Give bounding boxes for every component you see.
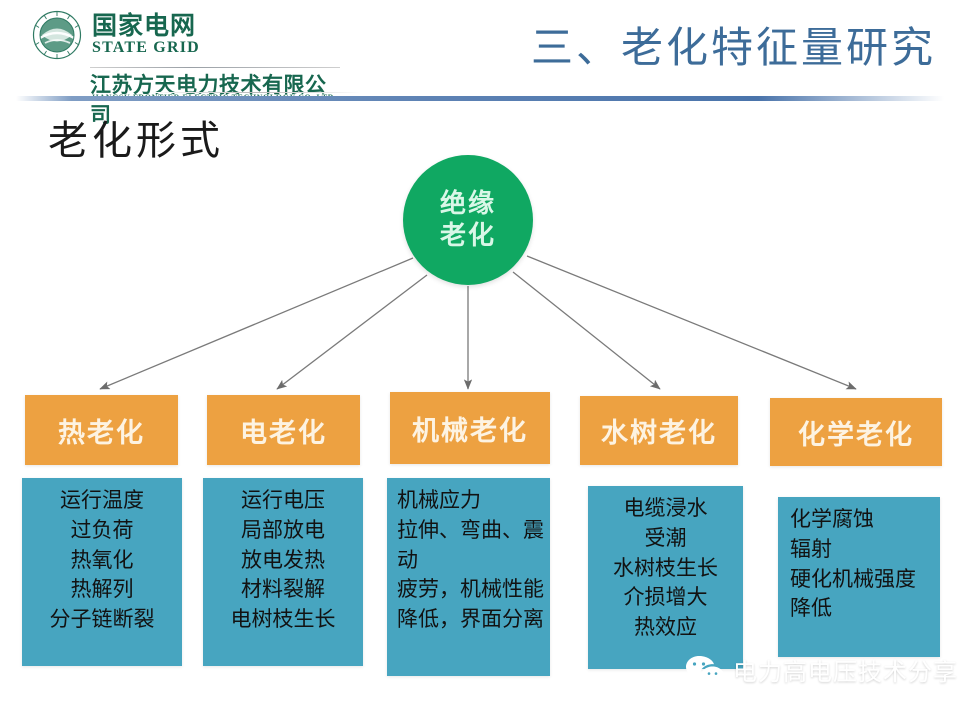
center-node-insulation-aging[interactable]: 绝缘 老化	[403, 155, 533, 285]
detail-line: 热解列	[26, 575, 178, 605]
detail-line: 局部放电	[207, 516, 359, 546]
detail-line: 热效应	[592, 613, 739, 643]
watermark-text: 电力高电压技术分享	[733, 652, 958, 687]
detail-box-water-tree[interactable]: 电缆浸水 受潮 水树枝生长 介损增大 热效应	[588, 486, 743, 669]
detail-line: 热氧化	[26, 546, 178, 576]
detail-line: 介损增大	[592, 583, 739, 613]
detail-line: 受潮	[592, 524, 739, 554]
detail-line: 放电发热	[207, 546, 359, 576]
aging-forms-diagram: 绝缘 老化 热老化 电老化 机械老化 水树老化 化学老化 运行温度 过负荷 热氧…	[0, 0, 960, 720]
detail-line: 辐射	[790, 535, 936, 565]
category-box-mechanical[interactable]: 机械老化	[390, 392, 550, 464]
detail-line: 电树枝生长	[207, 605, 359, 635]
detail-box-chemical[interactable]: 化学腐蚀 辐射 硬化机械强度降低	[778, 497, 940, 657]
detail-line: 运行电压	[207, 486, 359, 516]
center-node-line1: 绝缘	[440, 188, 496, 220]
detail-line: 材料裂解	[207, 575, 359, 605]
category-box-water-tree[interactable]: 水树老化	[580, 396, 738, 465]
detail-box-electrical[interactable]: 运行电压 局部放电 放电发热 材料裂解 电树枝生长	[203, 478, 363, 666]
category-box-thermal[interactable]: 热老化	[25, 395, 178, 465]
detail-box-mechanical[interactable]: 机械应力 拉伸、弯曲、震动 疲劳，机械性能降低，界面分离	[387, 478, 550, 676]
detail-line: 化学腐蚀	[790, 505, 936, 535]
detail-line: 疲劳，机械性能降低，界面分离	[397, 575, 544, 635]
wechat-icon	[684, 654, 724, 686]
category-box-electrical[interactable]: 电老化	[207, 395, 360, 465]
center-node-line2: 老化	[440, 220, 496, 252]
detail-line: 运行温度	[26, 486, 178, 516]
detail-line: 电缆浸水	[592, 494, 739, 524]
detail-line: 水树枝生长	[592, 554, 739, 584]
category-box-chemical[interactable]: 化学老化	[770, 398, 942, 466]
slide: 国家电网 STATE GRID 江苏方天电力技术有限公司 JIANGSU FRO…	[0, 0, 960, 720]
detail-line: 拉伸、弯曲、震动	[397, 516, 544, 576]
detail-line: 硬化机械强度降低	[790, 565, 936, 625]
detail-line: 机械应力	[397, 486, 544, 516]
detail-line: 分子链断裂	[26, 605, 178, 635]
detail-line: 过负荷	[26, 516, 178, 546]
watermark: 电力高电压技术分享	[684, 652, 958, 687]
detail-box-thermal[interactable]: 运行温度 过负荷 热氧化 热解列 分子链断裂	[22, 478, 182, 666]
